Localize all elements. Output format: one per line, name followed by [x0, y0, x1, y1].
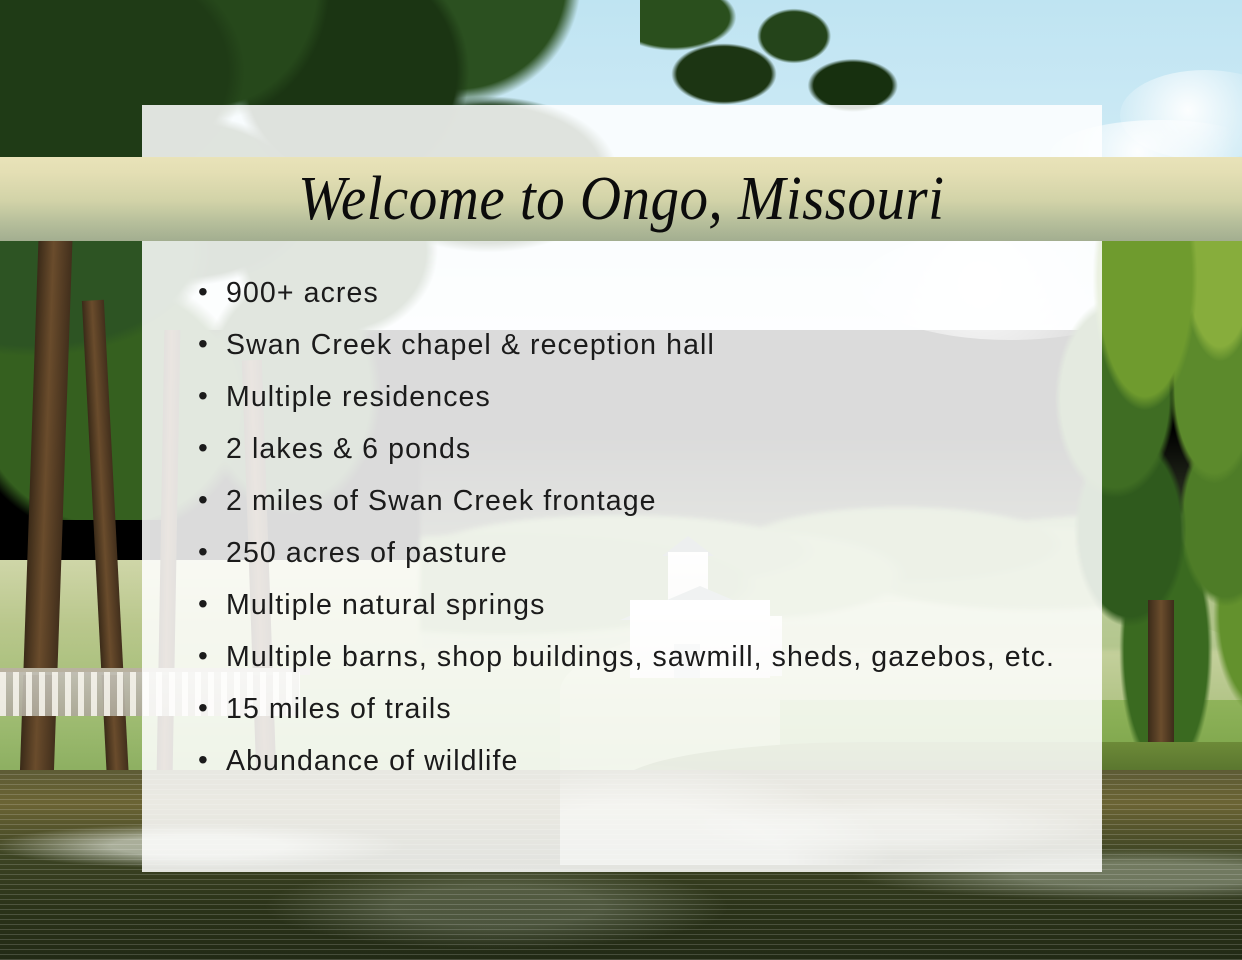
page-title: Welcome to Ongo, Missouri — [298, 168, 944, 230]
list-item: Swan Creek chapel & reception hall — [196, 328, 1056, 362]
list-item: 250 acres of pasture — [196, 536, 1056, 570]
presentation-slide: Welcome to Ongo, Missouri 900+ acres Swa… — [0, 0, 1242, 960]
list-item: Multiple residences — [196, 380, 1056, 414]
list-item: Multiple barns, shop buildings, sawmill,… — [196, 640, 1056, 674]
list-item: 15 miles of trails — [196, 692, 1056, 726]
list-item: Abundance of wildlife — [196, 744, 1056, 778]
title-band: Welcome to Ongo, Missouri — [0, 157, 1242, 241]
list-item: 2 lakes & 6 ponds — [196, 432, 1056, 466]
list-item: 900+ acres — [196, 276, 1056, 310]
list-item: Multiple natural springs — [196, 588, 1056, 622]
list-item: 2 miles of Swan Creek frontage — [196, 484, 1056, 518]
feature-list: 900+ acres Swan Creek chapel & reception… — [196, 276, 1056, 796]
